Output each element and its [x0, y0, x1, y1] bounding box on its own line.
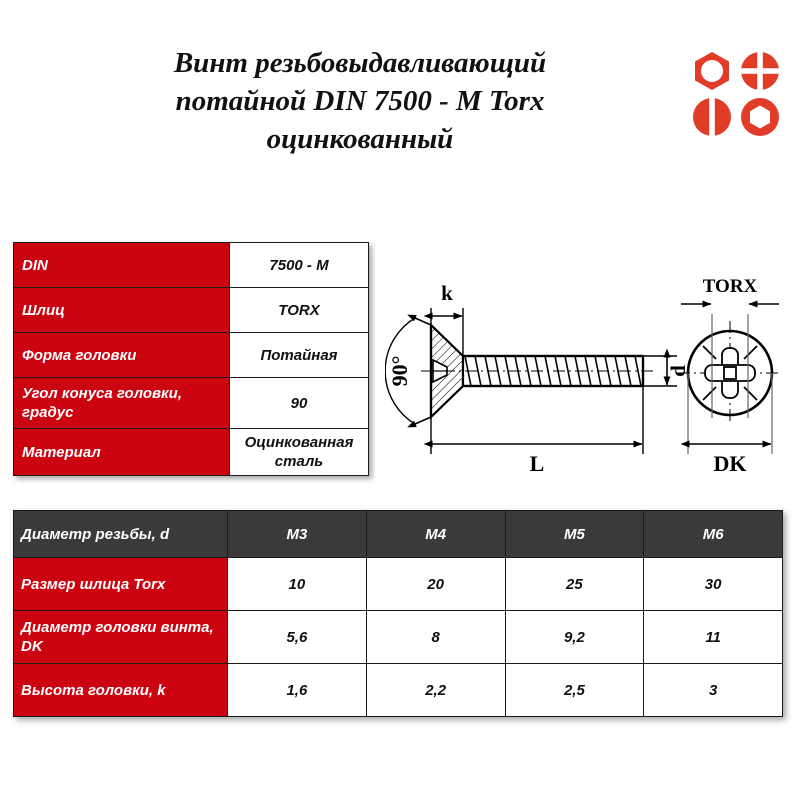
- length-label: L: [530, 451, 545, 476]
- dimension-table: Диаметр резьбы, d M3 M4 M5 M6 Размер шли…: [13, 510, 783, 717]
- dim-value-head-height-m3: 1,6: [228, 664, 367, 717]
- dim-value-head-diameter-m3: 5,6: [228, 611, 367, 664]
- spec-label-din: DIN: [14, 243, 230, 288]
- thread-diameter-label: d: [666, 365, 690, 377]
- spec-value-head-form: Потайная: [230, 333, 369, 378]
- dim-value-head-diameter-m4: 8: [366, 611, 505, 664]
- dim-header-m4: M4: [366, 511, 505, 558]
- page-title: Винт резьбовыдавливающий потайной DIN 75…: [60, 44, 660, 158]
- fastener-logo: [690, 48, 782, 140]
- spec-value-cone-angle: 90: [230, 378, 369, 429]
- cone-angle-label: 90°: [387, 356, 412, 387]
- table-row: Размер шлица Torx 10 20 25 30: [14, 558, 783, 611]
- table-header-row: Диаметр резьбы, d M3 M4 M5 M6: [14, 511, 783, 558]
- table-row: Угол конуса головки, градус 90: [14, 378, 369, 429]
- dim-header-m5: M5: [505, 511, 644, 558]
- page-title-line-2: потайной DIN 7500 - M Torx: [60, 82, 660, 120]
- spec-value-din: 7500 - M: [230, 243, 369, 288]
- dim-value-head-diameter-m5: 9,2: [505, 611, 644, 664]
- table-row: Материал Оцинкованная сталь: [14, 429, 369, 476]
- table-row: DIN 7500 - M: [14, 243, 369, 288]
- head-height-label: k: [441, 281, 453, 305]
- dim-label-head-height: Высота головки, k: [14, 664, 228, 717]
- table-row: Диаметр головки винта, DK 5,6 8 9,2 11: [14, 611, 783, 664]
- countersunk-screw-side-view: 90° k d L: [385, 281, 690, 476]
- dim-value-head-height-m6: 3: [644, 664, 783, 717]
- dim-value-head-height-m4: 2,2: [366, 664, 505, 717]
- head-diameter-label: DK: [714, 451, 747, 476]
- spec-label-drive: Шлиц: [14, 288, 230, 333]
- table-row: Форма головки Потайная: [14, 333, 369, 378]
- dim-value-head-diameter-m6: 11: [644, 611, 783, 664]
- dim-header-label: Диаметр резьбы, d: [14, 511, 228, 558]
- dim-header-m6: M6: [644, 511, 783, 558]
- specification-table: DIN 7500 - M Шлиц TORX Форма головки Пот…: [13, 242, 369, 476]
- spec-value-drive: TORX: [230, 288, 369, 333]
- dim-value-head-height-m5: 2,5: [505, 664, 644, 717]
- hex-socket-screw-icon: [741, 98, 779, 136]
- dim-value-torx-size-m4: 20: [366, 558, 505, 611]
- screw-head-top-view: TORX DK: [678, 276, 782, 476]
- spec-value-material: Оцинкованная сталь: [230, 429, 369, 476]
- table-row: Высота головки, k 1,6 2,2 2,5 3: [14, 664, 783, 717]
- hex-nut-icon: [695, 52, 729, 90]
- table-row: Шлиц TORX: [14, 288, 369, 333]
- technical-drawing: 90° k d L: [385, 268, 785, 493]
- drive-type-label: TORX: [703, 276, 758, 297]
- page-title-line-3: оцинкованный: [60, 120, 660, 158]
- dim-value-torx-size-m5: 25: [505, 558, 644, 611]
- spec-label-material: Материал: [14, 429, 230, 476]
- dim-label-torx-size: Размер шлица Torx: [14, 558, 228, 611]
- spec-label-cone-angle: Угол конуса головки, градус: [14, 378, 230, 429]
- dim-label-head-diameter: Диаметр головки винта, DK: [14, 611, 228, 664]
- spec-label-head-form: Форма головки: [14, 333, 230, 378]
- dim-header-m3: M3: [228, 511, 367, 558]
- dim-value-torx-size-m6: 30: [644, 558, 783, 611]
- page-title-line-1: Винт резьбовыдавливающий: [60, 44, 660, 82]
- straight-slot-screw-icon: [693, 97, 731, 137]
- dim-value-torx-size-m3: 10: [228, 558, 367, 611]
- cross-slot-screw-icon: [740, 51, 780, 91]
